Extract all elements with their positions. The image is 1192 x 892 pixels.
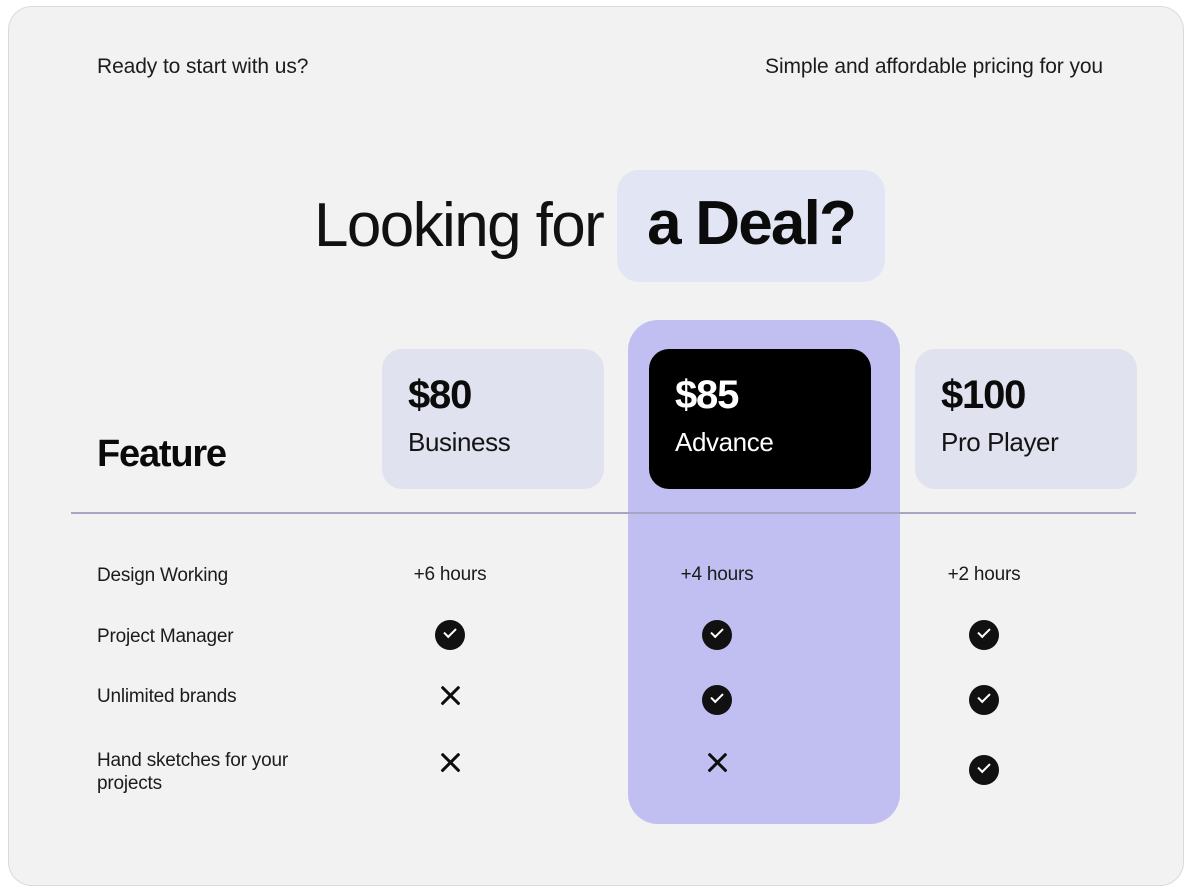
eyebrow-right-text: Simple and affordable pricing for you xyxy=(765,55,1103,79)
plan-card-business[interactable]: $80 Business xyxy=(382,349,604,489)
feature-label: Project Manager xyxy=(97,625,347,648)
plan-card-advance[interactable]: $85 Advance xyxy=(649,349,871,489)
feature-label: Unlimited brands xyxy=(97,685,347,708)
feature-value xyxy=(339,620,561,650)
check-icon xyxy=(969,620,999,650)
check-icon xyxy=(702,685,732,715)
feature-label: Design Working xyxy=(97,564,347,587)
feature-value xyxy=(873,755,1095,785)
feature-value xyxy=(606,620,828,650)
headline: Looking for a Deal? xyxy=(314,170,885,282)
plan-price: $100 xyxy=(941,375,1137,415)
pricing-panel: Ready to start with us? Simple and affor… xyxy=(8,6,1184,886)
check-icon xyxy=(435,620,465,650)
cross-icon xyxy=(435,747,465,777)
eyebrow-left-text: Ready to start with us? xyxy=(97,55,308,79)
feature-value xyxy=(873,620,1095,650)
headline-emphasis-chip: a Deal? xyxy=(617,170,885,282)
feature-label: Hand sketches for your projects xyxy=(97,749,347,795)
plan-card-pro-player[interactable]: $100 Pro Player xyxy=(915,349,1137,489)
feature-value xyxy=(606,747,828,777)
check-icon xyxy=(969,755,999,785)
feature-column-title: Feature xyxy=(97,435,226,473)
feature-value: +4 hours xyxy=(606,564,828,586)
feature-value: +2 hours xyxy=(873,564,1095,586)
feature-value xyxy=(873,685,1095,715)
plan-name: Pro Player xyxy=(941,429,1137,455)
feature-value xyxy=(339,680,561,710)
plan-price: $85 xyxy=(675,375,871,415)
plan-name: Business xyxy=(408,429,604,455)
feature-value xyxy=(339,747,561,777)
eyebrow-row: Ready to start with us? Simple and affor… xyxy=(97,55,1103,79)
check-icon xyxy=(702,620,732,650)
feature-value xyxy=(606,685,828,715)
feature-value: +6 hours xyxy=(339,564,561,586)
cross-icon xyxy=(435,680,465,710)
plan-price: $80 xyxy=(408,375,604,415)
cross-icon xyxy=(702,747,732,777)
header-divider xyxy=(71,512,1136,514)
check-icon xyxy=(969,685,999,715)
plan-name: Advance xyxy=(675,429,871,455)
headline-lead: Looking for xyxy=(314,195,617,257)
